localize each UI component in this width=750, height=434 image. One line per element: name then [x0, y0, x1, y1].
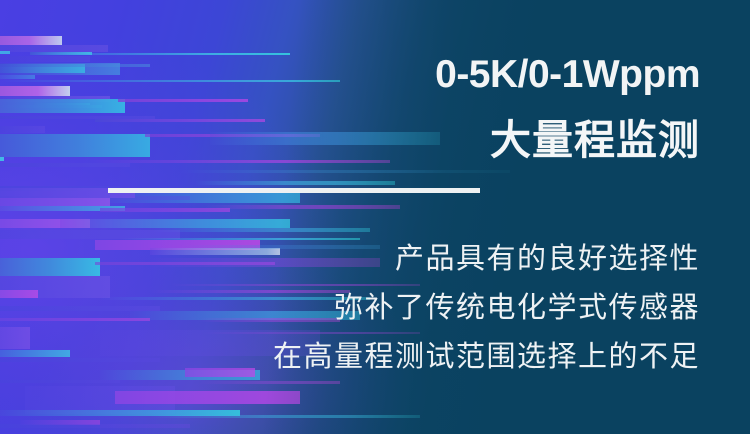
feature-line-3: 在高量程测试范围选择上的不足 — [230, 343, 700, 372]
headline-divider — [108, 188, 480, 193]
feature-line-2: 弥补了传统电化学式传感器 — [230, 294, 700, 323]
headline-subject: 大量程监测 — [230, 120, 700, 161]
promo-banner: 0-5K/0-1Wppm 大量程监测 产品具有的良好选择性 弥补了传统电化学式传… — [0, 0, 750, 434]
banner-text-block: 0-5K/0-1Wppm 大量程监测 产品具有的良好选择性 弥补了传统电化学式传… — [230, 0, 700, 434]
headline-range: 0-5K/0-1Wppm — [230, 55, 700, 94]
feature-line-1: 产品具有的良好选择性 — [230, 245, 700, 274]
